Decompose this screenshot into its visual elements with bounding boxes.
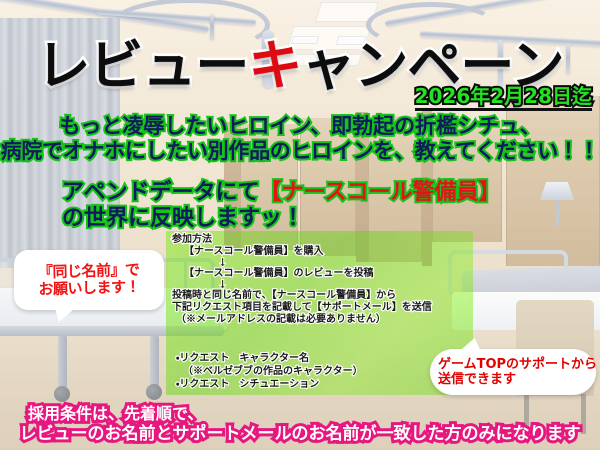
howto-step-3-line-1: 投稿時と同じ名前で、【ナースコール警備員】から [172, 290, 472, 302]
title-part-1: レビュー [36, 33, 248, 97]
append-data-copy: アペンドデータにて【ナースコール警備員】 の世界に反映しますッ！ [0, 180, 600, 232]
lead-copy: もっと凌辱したいヒロイン、即勃起の折檻シチュ、 病院でオナホにしたい別作品のヒロ… [0, 114, 600, 164]
request-items-list: ・リクエスト キャラクター名 （※ベルゼブブの作品のキャラクター） ・リクエスト… [176, 352, 466, 391]
request-item-1: ・リクエスト キャラクター名 [176, 352, 466, 365]
howto-step-3-note: （※メールアドレスの記載は必要ありません） [172, 314, 472, 326]
append-data-game-title: 【ナースコール警備員】 [260, 179, 501, 205]
howto-participate-block: 参加方法 【ナースコール警備員】を購入 ↓ 【ナースコール警備員】のレビューを投… [172, 234, 472, 326]
support-info-line-1: ゲームTOPのサポートから [438, 358, 596, 373]
lead-copy-line-1: もっと凌辱したいヒロイン、即勃起の折檻シチュ、 [0, 114, 600, 139]
title-highlight-char: キ [248, 33, 301, 97]
eligibility-line-2: レビューのお名前とサポートメールのお名前が一致した方のみになります [0, 424, 600, 444]
same-name-speech-bubble-text: 『同じ名前』で お願いします！ [13, 248, 165, 312]
deadline-date-badge: 2026年2月28日迄 [415, 86, 592, 111]
eligibility-condition-bar: 採用条件は、先着順で、 レビューのお名前とサポートメールのお名前が一致した方のみ… [0, 404, 600, 444]
arrow-down-icon: ↓ [172, 258, 472, 268]
append-data-prefix: アペンドデータにて [62, 179, 260, 205]
arrow-down-icon: ↓ [172, 280, 472, 290]
request-item-2: ・リクエスト シチュエーション [176, 378, 466, 391]
eligibility-line-1: 採用条件は、先着順で、 [0, 404, 600, 423]
append-data-line-1: アペンドデータにて【ナースコール警備員】 [62, 180, 600, 206]
append-data-line-2: の世界に反映しますッ！ [62, 206, 600, 232]
same-name-line-2: お願いします！ [38, 279, 140, 298]
howto-step-2: 【ナースコール警備員】のレビューを投稿 [172, 268, 472, 280]
support-info-line-2: 送信できます [438, 373, 596, 388]
request-item-1-note: （※ベルゼブブの作品のキャラクター） [176, 365, 466, 378]
howto-step-3-line-2: 下記リクエスト項目を記載して【サポートメール】を送信 [172, 302, 472, 314]
lead-copy-line-2: 病院でオナホにしたい別作品のヒロインを、教えてください！！ [0, 139, 600, 164]
text-layer: レビューキャンペーン 2026年2月28日迄 もっと凌辱したいヒロイン、即勃起の… [0, 0, 600, 450]
review-campaign-banner: レビューキャンペーン 2026年2月28日迄 もっと凌辱したいヒロイン、即勃起の… [0, 0, 600, 450]
howto-heading: 参加方法 [172, 234, 472, 246]
howto-step-1: 【ナースコール警備員】を購入 [172, 246, 472, 258]
support-info-bubble-text: ゲームTOPのサポートから 送信できます [438, 353, 596, 393]
